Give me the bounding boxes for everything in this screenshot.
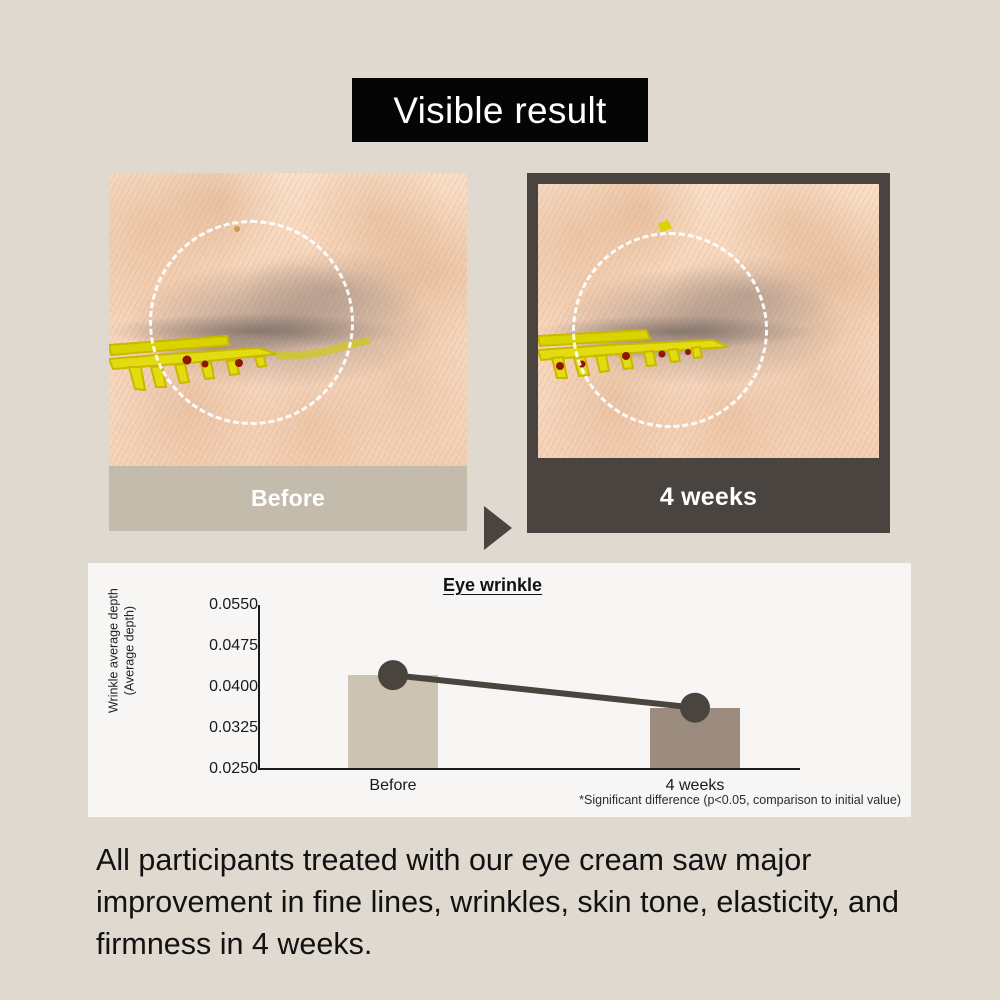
- y-axis-label-line2: (Average depth): [122, 571, 138, 731]
- y-tick-label: 0.0250: [180, 760, 258, 778]
- trend-line: [393, 675, 695, 708]
- y-axis-ticks: 0.0550 0.0475 0.0400 0.0325 0.0250: [180, 563, 258, 817]
- trend-line-overlay: [258, 605, 800, 770]
- before-label: Before: [251, 485, 325, 512]
- y-axis-label-line1: Wrinkle average depth: [106, 571, 122, 731]
- chart-title: Eye wrinkle: [443, 575, 542, 596]
- before-after-comparison: Before: [0, 173, 1000, 533]
- page-title: Visible result: [393, 92, 606, 129]
- y-tick-label: 0.0475: [180, 637, 258, 655]
- y-tick-label: 0.0400: [180, 678, 258, 696]
- region-highlight-circle: [572, 232, 768, 428]
- chart-footnote: *Significant difference (p<0.05, compari…: [579, 793, 901, 807]
- before-skin-photo: [109, 173, 467, 466]
- eye-wrinkle-chart-panel: Eye wrinkle Wrinkle average depth (Avera…: [88, 563, 911, 817]
- after-panel: 4 weeks: [527, 173, 890, 533]
- summary-caption: All participants treated with our eye cr…: [96, 840, 906, 965]
- data-point-marker-4-weeks: [680, 693, 710, 723]
- before-panel: Before: [109, 173, 467, 531]
- after-skin-photo: [538, 184, 879, 458]
- plot-area: Before 4 weeks: [258, 605, 800, 770]
- after-caption-bar: 4 weeks: [527, 462, 890, 533]
- x-tick-label-before: Before: [369, 777, 416, 795]
- y-axis-label: Wrinkle average depth (Average depth): [106, 571, 137, 731]
- region-highlight-circle: [149, 220, 354, 425]
- arrow-right-icon: [484, 506, 512, 550]
- before-caption-bar: Before: [109, 466, 467, 531]
- y-tick-label: 0.0325: [180, 719, 258, 737]
- data-point-marker-before: [378, 660, 408, 690]
- after-label: 4 weeks: [660, 483, 757, 512]
- y-tick-label: 0.0550: [180, 596, 258, 614]
- visible-result-banner: Visible result: [352, 78, 648, 142]
